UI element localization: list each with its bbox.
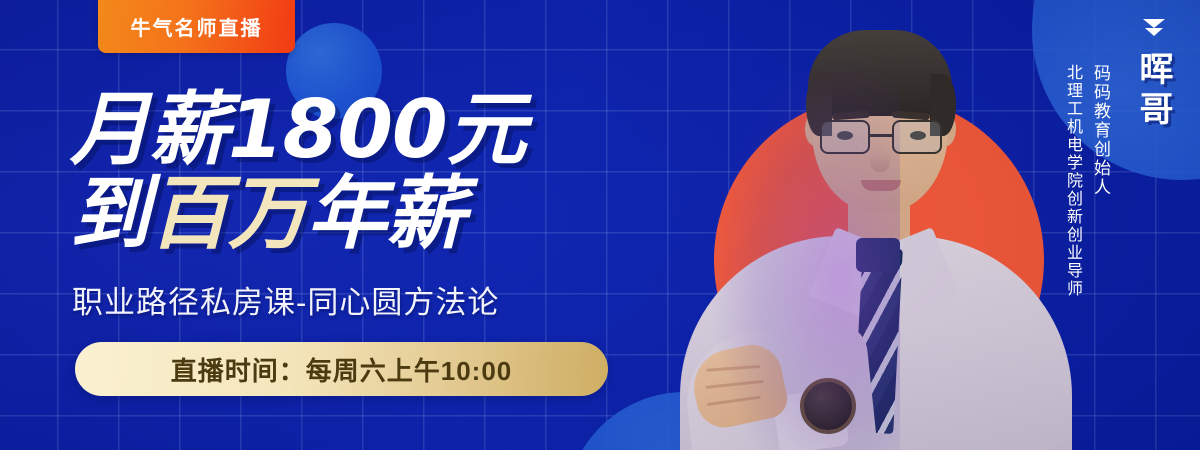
headline-line-2-suffix: 年薪 (307, 167, 465, 260)
live-time-label: 直播时间：每周六上午10:00 (171, 351, 513, 388)
speaker-credential-secondary: 北理工机电学院创新创业导师 (1060, 64, 1084, 298)
headline-line-1: 月薪1800元 (70, 92, 650, 168)
speaker-credential-primary: 码码教育创始人 (1088, 64, 1113, 197)
headline-line-2: 到百万年薪 (70, 176, 650, 252)
headline-line-2-prefix: 到 (70, 167, 149, 260)
live-course-promo-banner: 牛气名师直播 月薪1800元 到百万年薪 职业路径私房课-同心圆方法论 直播时间… (0, 0, 1200, 450)
speaker-info-column: 北理工机电学院创新创业导师 码码教育创始人 晖哥 (1060, 18, 1178, 328)
course-subtitle: 职业路径私房课-同心圆方法论 (72, 277, 499, 322)
double-chevron-down-icon (1141, 18, 1167, 45)
speaker-name: 晖哥 (1129, 51, 1178, 131)
live-badge-label: 牛气名师直播 (131, 12, 263, 41)
speaker-credentials: 北理工机电学院创新创业导师 码码教育创始人 (1060, 64, 1113, 298)
live-badge[interactable]: 牛气名师直播 (98, 0, 295, 53)
speaker-name-wrap: 晖哥 (1129, 18, 1178, 131)
headline-line-2-highlight: 百万 (149, 167, 307, 260)
live-time-pill: 直播时间：每周六上午10:00 (75, 342, 608, 396)
headline-block: 月薪1800元 到百万年薪 (70, 92, 650, 252)
